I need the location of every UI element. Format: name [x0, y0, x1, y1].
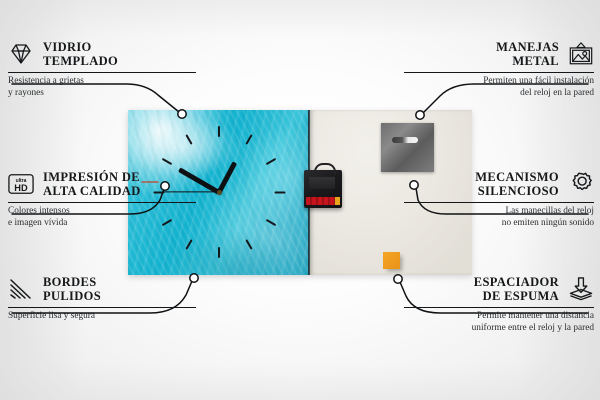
hanger-plate	[381, 123, 434, 172]
callout-title: VIDRIO TEMPLADO	[43, 40, 118, 68]
callout-title: IMPRESIÓN DE ALTA CALIDAD	[43, 170, 141, 198]
callout-divider	[8, 202, 196, 203]
callout-title: MANEJAS METAL	[496, 40, 559, 68]
callout-subtitle: Las manecillas del reloj no emiten ningú…	[404, 206, 594, 229]
callout-mecanismo-silencioso[interactable]: MECANISMO SILENCIOSO Las manecillas del …	[404, 170, 594, 229]
ultra-hd-icon: ultra HD	[8, 171, 34, 197]
ultra-hd-large-text: HD	[14, 183, 28, 193]
clock-tick	[218, 247, 220, 258]
clock-tick	[218, 126, 220, 137]
callout-subtitle: Resistencia a grietas y rayones	[8, 76, 196, 99]
arrow-down-foam-icon	[568, 276, 594, 302]
movement-housing-detail	[309, 177, 335, 189]
callout-vidrio-templado[interactable]: VIDRIO TEMPLADO Resistencia a grietas y …	[8, 40, 196, 99]
gear-icon	[568, 171, 594, 197]
hanger-slot	[392, 137, 418, 143]
callout-title: ESPACIADOR DE ESPUMA	[474, 275, 559, 303]
callout-header: ultra HD IMPRESIÓN DE ALTA CALIDAD	[8, 170, 196, 198]
anchor-dot-espaciador	[394, 275, 402, 283]
quartz-movement	[304, 170, 342, 208]
callout-title: BORDES PULIDOS	[43, 275, 101, 303]
callout-divider	[404, 72, 594, 73]
callout-espaciador-de-espuma[interactable]: ESPACIADOR DE ESPUMA Permite mantener un…	[404, 275, 594, 334]
callout-header: ESPACIADOR DE ESPUMA	[404, 275, 594, 303]
callout-divider	[8, 307, 196, 308]
callout-header: MANEJAS METAL	[404, 40, 594, 68]
callout-manejas-metal[interactable]: MANEJAS METAL Permiten una fácil instala…	[404, 40, 594, 99]
callout-subtitle: Colores intensos e imagen vívida	[8, 206, 196, 229]
clock-center-hub	[217, 190, 222, 195]
battery-terminal	[335, 197, 340, 205]
callout-subtitle: Superficie lisa y segura	[8, 311, 196, 323]
diamond-icon	[8, 41, 34, 67]
polished-edge-icon	[8, 276, 34, 302]
callout-header: MECANISMO SILENCIOSO	[404, 170, 594, 198]
infographic-canvas: VIDRIO TEMPLADO Resistencia a grietas y …	[0, 0, 600, 400]
callout-impresion-alta-calidad[interactable]: ultra HD IMPRESIÓN DE ALTA CALIDAD Color…	[8, 170, 196, 229]
callout-subtitle: Permiten una fácil instalación del reloj…	[404, 76, 594, 99]
picture-frame-hook-icon	[568, 41, 594, 67]
callout-divider	[404, 202, 594, 203]
clock-tick	[274, 191, 285, 193]
callout-header: BORDES PULIDOS	[8, 275, 196, 303]
callout-subtitle: Permite mantener una distancia uniforme …	[404, 311, 594, 334]
callout-title: MECANISMO SILENCIOSO	[475, 170, 559, 198]
callout-divider	[8, 72, 196, 73]
foam-spacer	[383, 252, 400, 269]
movement-hanging-loop	[314, 163, 336, 175]
callout-divider	[404, 307, 594, 308]
callout-bordes-pulidos[interactable]: BORDES PULIDOS Superficie lisa y segura	[8, 275, 196, 323]
callout-header: VIDRIO TEMPLADO	[8, 40, 196, 68]
